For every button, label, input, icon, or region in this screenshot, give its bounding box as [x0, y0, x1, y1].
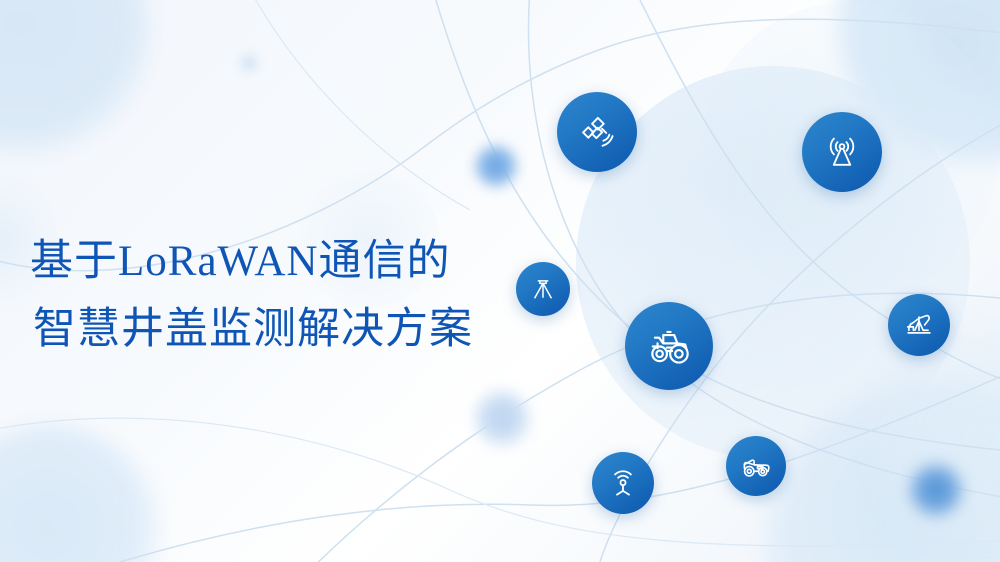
- oil-pumpjack-icon: [901, 307, 937, 343]
- accent-dot-upper: [474, 144, 518, 188]
- node-satellite[interactable]: [557, 92, 637, 172]
- cover-slide: 基于LoRaWAN通信的 智慧井盖监测解决方案: [0, 0, 1000, 562]
- accent-dot-lower-right: [908, 462, 964, 518]
- accent-dot-middle: [474, 390, 530, 446]
- title-line-1: 基于LoRaWAN通信的: [30, 228, 550, 296]
- background-blob-bottom-right: [766, 382, 1000, 562]
- slide-title: 基于LoRaWAN通信的 智慧井盖监测解决方案: [30, 228, 550, 364]
- node-harvester[interactable]: [726, 436, 786, 496]
- background-blob-bottom-left: [0, 424, 162, 562]
- node-signal-beacon[interactable]: [592, 452, 654, 514]
- node-radio-tower[interactable]: [802, 112, 882, 192]
- node-oil-pumpjack[interactable]: [888, 294, 950, 356]
- node-tractor[interactable]: [625, 302, 713, 390]
- accent-dot-top: [236, 50, 262, 76]
- harvester-icon: [738, 448, 774, 484]
- radio-tower-icon: [820, 130, 864, 174]
- satellite-icon: [575, 110, 619, 154]
- title-line-2: 智慧井盖监测解决方案: [30, 296, 550, 364]
- background-blob-top-left: [0, 0, 154, 160]
- signal-beacon-icon: [605, 465, 641, 501]
- tractor-icon: [644, 321, 694, 371]
